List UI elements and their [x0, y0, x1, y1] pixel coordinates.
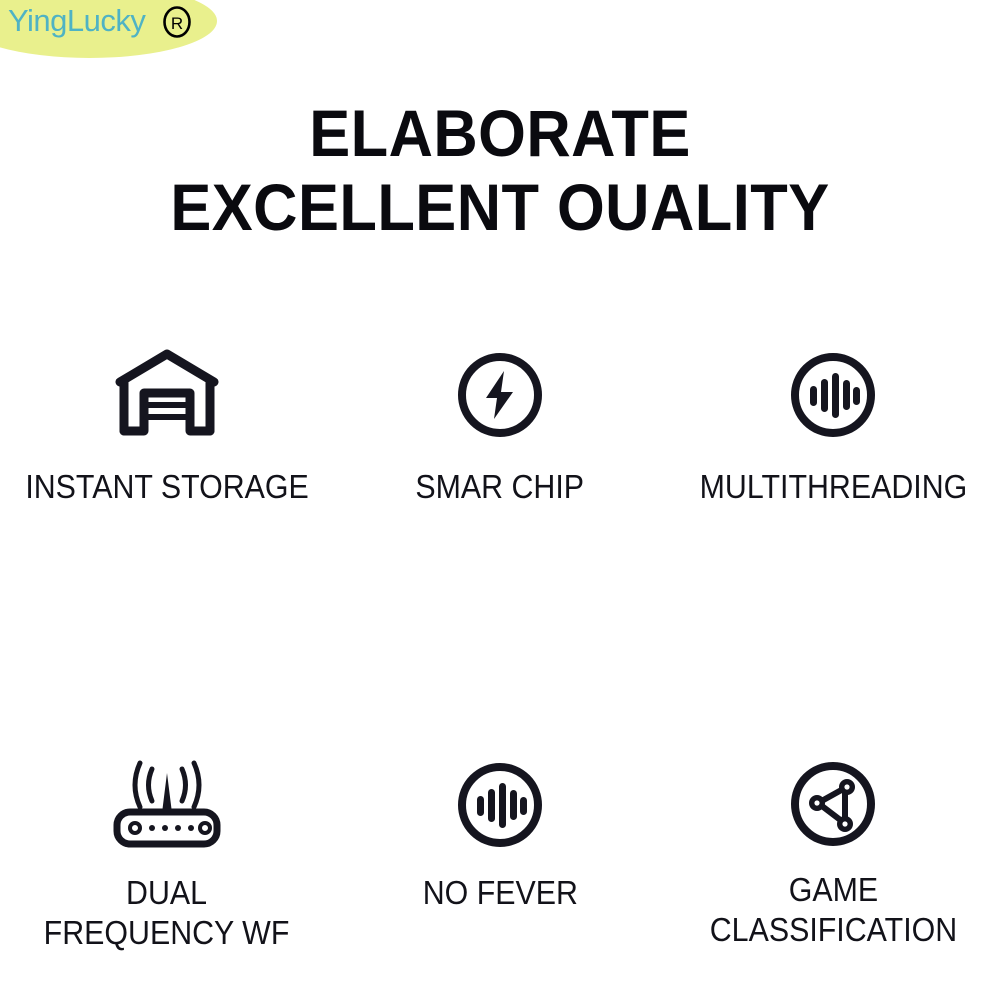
feature-item-dual-frequency-wf: DUAL FREQUENCY WF [0, 755, 333, 950]
brand-name: YingLucky [8, 2, 145, 40]
brand-logo: YingLucky R [0, 0, 225, 60]
feature-item-smar-chip: SMAR CHIP [333, 345, 666, 540]
share-network-circle-icon [787, 755, 879, 852]
svg-text:R: R [171, 14, 183, 33]
feature-label-dual-frequency-wf: DUAL FREQUENCY WF [44, 873, 290, 953]
feature-item-game-classification: GAME CLASSIFICATION [667, 755, 1000, 950]
feature-label-instant-storage: INSTANT STORAGE [25, 467, 308, 507]
feature-label-game-classification: GAME CLASSIFICATION [710, 870, 957, 950]
feature-item-no-fever: NO FEVER [333, 755, 666, 950]
feature-item-instant-storage: INSTANT STORAGE [0, 345, 333, 540]
feature-label-no-fever: NO FEVER [422, 873, 577, 913]
page-title: ELABORATE EXCELLENT OUALITY [35, 96, 965, 244]
wifi-router-icon [105, 755, 229, 855]
title-line-2: EXCELLENT OUALITY [35, 170, 965, 244]
lightning-bolt-circle-icon [454, 345, 546, 445]
feature-label-smar-chip: SMAR CHIP [416, 467, 585, 507]
waveform-circle-icon [787, 345, 879, 445]
waveform-circle-icon [454, 755, 546, 855]
feature-grid: INSTANT STORAGE SMAR CHIP MULTITHREADING [0, 345, 1000, 950]
feature-item-multithreading: MULTITHREADING [667, 345, 1000, 540]
title-line-1: ELABORATE [35, 96, 965, 170]
warehouse-icon [113, 345, 221, 445]
registered-trademark-icon: R [162, 6, 192, 38]
feature-label-multithreading: MULTITHREADING [700, 467, 968, 507]
